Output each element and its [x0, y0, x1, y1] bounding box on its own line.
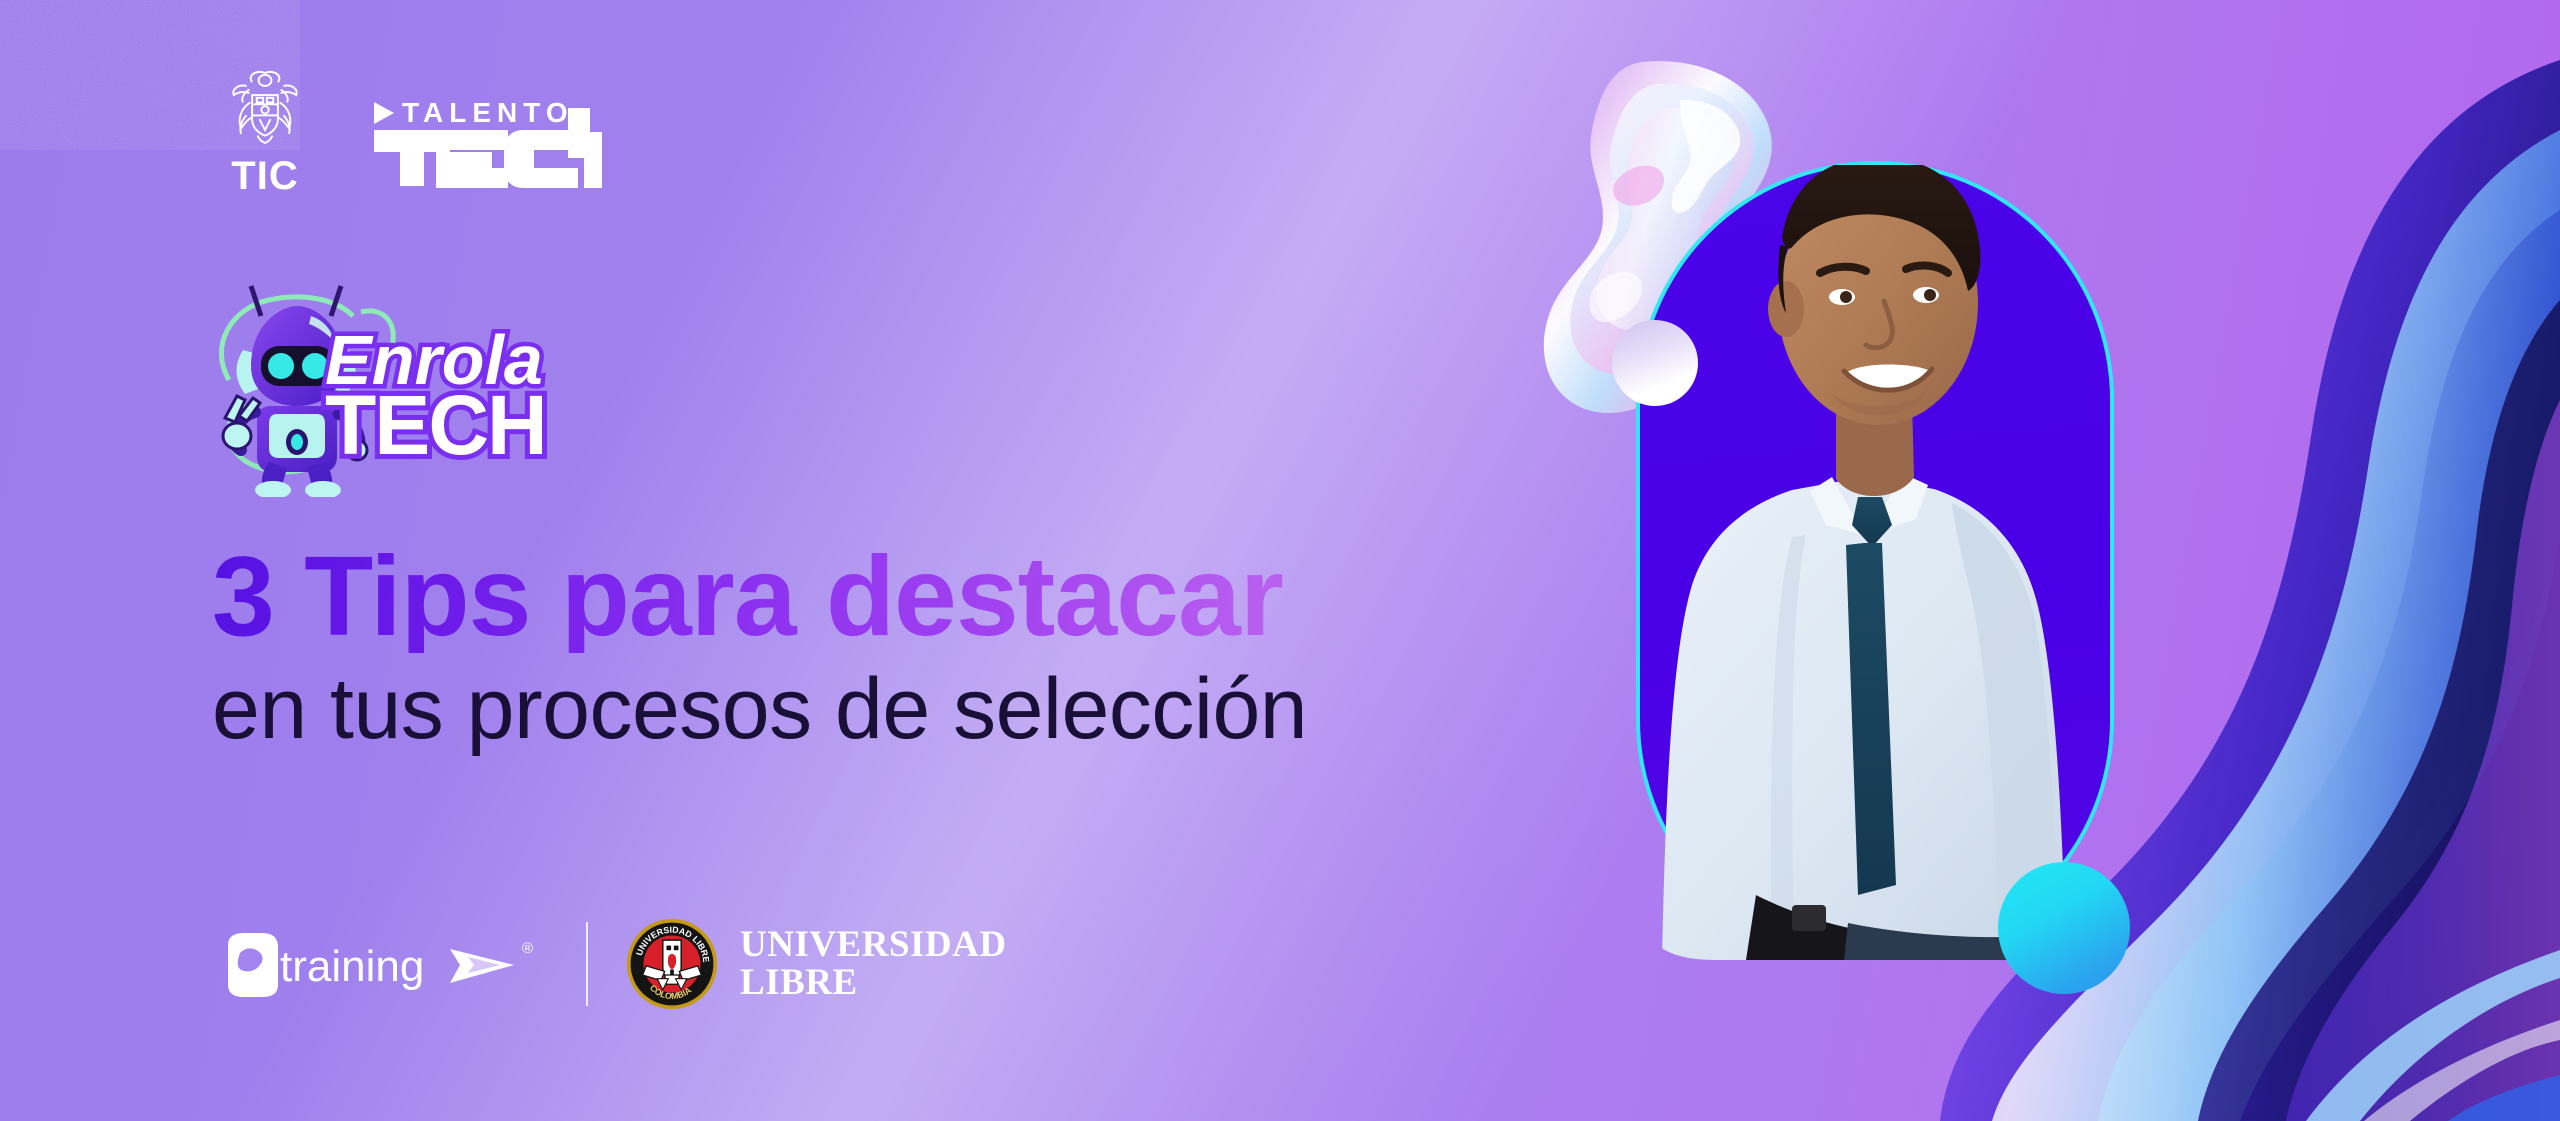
headline-line-2: en tus procesos de selección: [212, 663, 1572, 756]
universidad-libre-seal-icon: UNIVERSIDAD LIBRE COLOMBIA: [626, 918, 718, 1010]
logo-divider: [586, 922, 588, 1006]
tic-label: TIC: [231, 156, 298, 196]
play-triangle-icon: [374, 102, 394, 124]
gov-logo: TIC: [205, 62, 325, 197]
registered-mark: ®: [522, 940, 533, 957]
colombia-coat-of-arms-icon: [219, 62, 311, 154]
etraining-logo: training ®: [222, 931, 542, 997]
white-sphere-icon: [1612, 320, 1698, 406]
enrola-wordmark: Enrola TECH: [325, 321, 546, 472]
universidad-name-line1: UNIVERSIDAD: [740, 926, 1007, 964]
headline-block: 3 Tips para destacar en tus procesos de …: [212, 540, 1572, 756]
headline-line-1: 3 Tips para destacar: [212, 540, 1572, 653]
talento-tech-logo: TALENTO: [372, 88, 602, 193]
footer-logo-row: training ® UNIVERSIDAD LIBRE: [222, 916, 1007, 1012]
etraining-pencil-icon: [450, 949, 514, 983]
universidad-libre-logo: UNIVERSIDAD LIBRE COLOMBIA: [626, 918, 1007, 1010]
enrola-tech-logo: Enrola TECH: [185, 272, 605, 497]
etraining-wordmark: training: [280, 942, 424, 991]
cyan-sphere-icon: [1998, 862, 2130, 994]
tech-word: TECH: [325, 378, 546, 472]
portrait-photo: [1596, 105, 2156, 960]
svg-text:TALENTO: TALENTO: [402, 97, 574, 128]
universidad-name-line2: LIBRE: [740, 964, 1007, 1002]
promo-banner: TIC TALENTO: [0, 0, 2560, 1121]
